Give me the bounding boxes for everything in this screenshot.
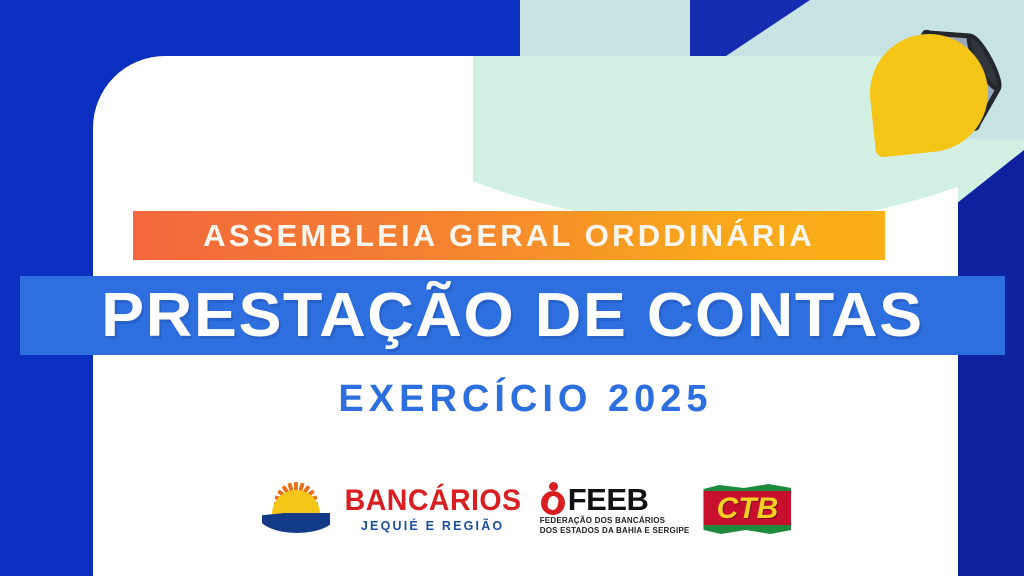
- logo-feeb-caption-2: DOS ESTADOS DA BAHIA E SERGIPE: [540, 526, 690, 536]
- subtitle-banner-orange: ASSEMBLEIA GERAL ORDDINÁRIA: [133, 211, 885, 260]
- sun-wave-icon: [260, 480, 332, 538]
- logo-ctb: CTB: [703, 484, 791, 534]
- logo-ctb-name: CTB: [703, 484, 791, 534]
- logo-feeb-caption-1: FEDERAÇÃO DOS BANCÁRIOS: [540, 516, 666, 526]
- logo-bancarios-name: BANCÁRIOS: [344, 486, 521, 516]
- page-subtitle: EXERCÍCIO 2025: [93, 378, 958, 421]
- title-banner-blue: PRESTAÇÃO DE CONTAS: [20, 276, 1005, 355]
- logo-bancarios-region: JEQUIÉ E REGIÃO: [340, 520, 526, 533]
- poster-canvas: ASSEMBLEIA GERAL ORDDINÁRIA PRESTAÇÃO DE…: [0, 0, 1024, 576]
- logo-bancarios: BANCÁRIOS JEQUIÉ E REGIÃO: [260, 480, 526, 538]
- logo-strip: BANCÁRIOS JEQUIÉ E REGIÃO FEEB FEDERAÇÃO…: [93, 474, 958, 544]
- banner-top-label: ASSEMBLEIA GERAL ORDDINÁRIA: [203, 218, 815, 254]
- wave-icon: [262, 513, 330, 535]
- logo-feeb-name: FEEB: [568, 484, 649, 515]
- person-circle-icon: [540, 482, 566, 516]
- page-title: PRESTAÇÃO DE CONTAS: [101, 280, 924, 351]
- logo-feeb: FEEB FEDERAÇÃO DOS BANCÁRIOS DOS ESTADOS…: [540, 482, 690, 536]
- megaphone-badge: [856, 12, 1016, 172]
